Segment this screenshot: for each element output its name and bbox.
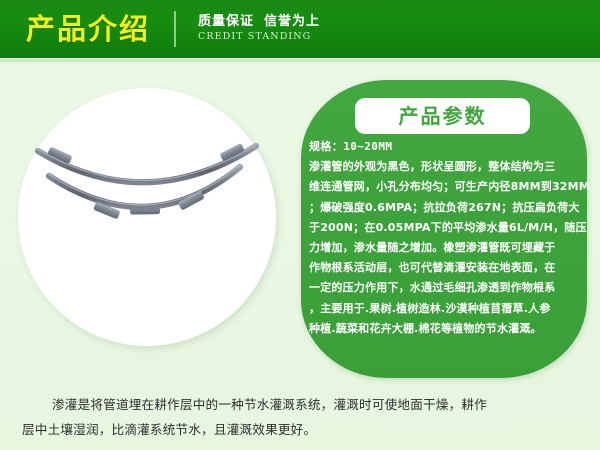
pipe-lower-right-fitting [178,190,205,210]
parameter-line: 维连通管网，小孔分布均匀；可生产内径8MM到32MM [309,177,581,197]
slogan-english: CREDIT STANDING [198,31,320,44]
header-underline-secondary [0,62,600,63]
header-slogan: 质量保证信誉为上 CREDIT STANDING [198,14,320,44]
header-content: 产品介绍 质量保证信誉为上 CREDIT STANDING [26,0,320,58]
bottom-description-line-1: 渗灌是将管道埋在耕作层中的一种节水灌溉系统，灌溉时可使地面干燥，耕作 [22,392,578,417]
slogan-chinese: 质量保证信誉为上 [198,14,320,30]
parameter-line: 种植.蔬菜和花卉大棚.棉花等植物的节水灌溉。 [309,319,581,339]
parameters-title-text: 产品参数 [399,106,487,126]
product-photo-pipes [18,88,276,346]
header-divider [174,11,176,47]
parameter-line: ，主要用于.果树.植树造林.沙漠种植苜蓿草.人参 [309,299,581,319]
parameter-line: 力增加，渗水量随之增加。橡塑渗灌管既可埋藏于 [309,238,581,258]
slogan-credit: 信誉为上 [264,14,320,29]
bottom-description: 渗灌是将管道埋在耕作层中的一种节水灌溉系统，灌溉时可使地面干燥，耕作 层中土壤湿… [22,392,578,442]
parameter-line: ；爆破强度0.6MPA；抗拉负荷267N；抗压扁负荷大 [309,198,581,218]
parameters-body: 规格：10~20MM 渗灌管的外观为黑色，形状呈圆形，整体结构为三 维连通管网，… [309,137,581,339]
parameter-line: 作物根系活动层，也可代替滴灌安装在地表面，在 [309,258,581,278]
product-intro-page: 产品介绍 质量保证信誉为上 CREDIT STANDING [0,0,600,450]
slogan-quality: 质量保证 [198,14,254,29]
bottom-description-line-2: 层中土壤湿润，比滴灌系统节水，且灌溉效果更好。 [22,417,578,442]
product-parameters-panel: 产品参数 规格：10~20MM 渗灌管的外观为黑色，形状呈圆形，整体结构为三 维… [301,80,587,378]
parameter-line: 于200N；在0.05MPA下的平均渗水量6L/M/H，随压 [309,218,581,238]
parameter-spec: 规格：10~20MM [309,137,581,157]
page-header: 产品介绍 质量保证信誉为上 CREDIT STANDING [0,0,600,58]
parameter-line: 渗灌管的外观为黑色，形状呈圆形，整体结构为三 [309,157,581,177]
page-title: 产品介绍 [26,15,150,44]
parameters-title-badge: 产品参数 [355,98,530,134]
parameter-line: 一定的压力作用下，水通过毛细孔渗透到作物根系 [309,278,581,298]
